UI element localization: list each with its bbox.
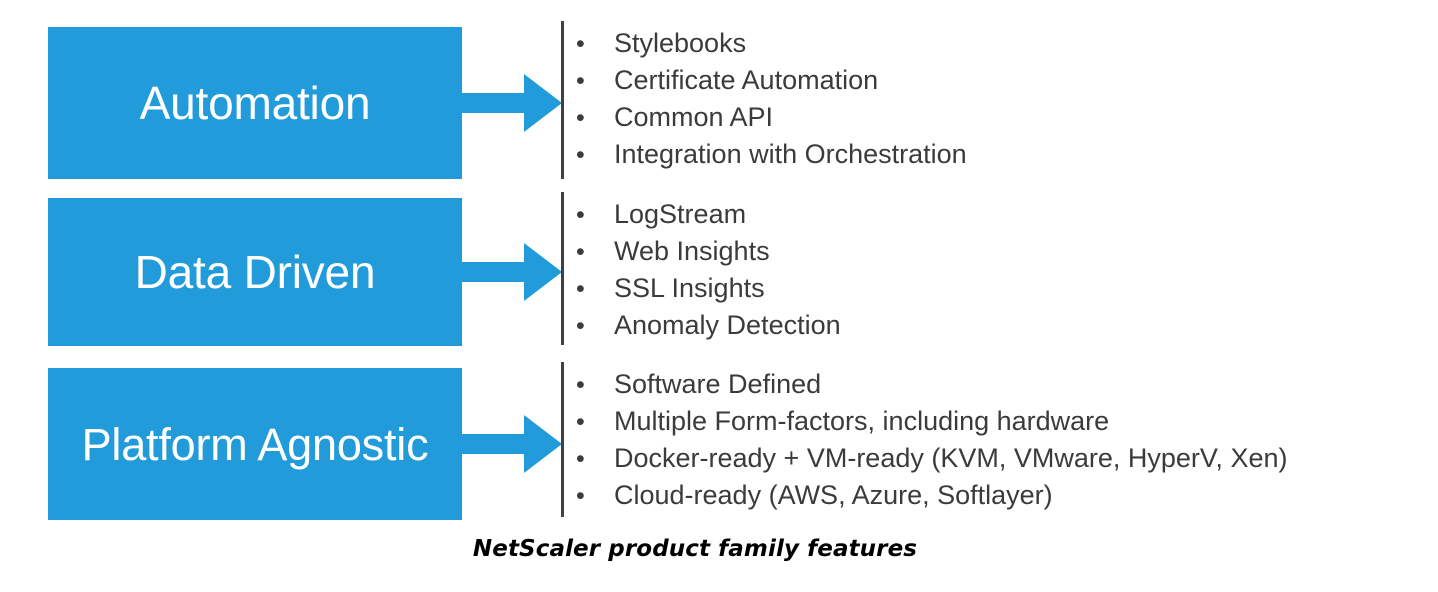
category-label: Data Driven	[135, 249, 376, 295]
arrow-right-icon	[462, 74, 562, 132]
arrow-right-icon	[462, 415, 562, 473]
list-item: • SSL Insights	[576, 270, 841, 307]
feature-group-platform-agnostic: Platform Agnostic • Software Defined • M…	[0, 368, 1438, 520]
bullet-point-icon: •	[576, 234, 614, 271]
list-item: • Web Insights	[576, 233, 841, 270]
list-item: • Integration with Orchestration	[576, 136, 967, 173]
feature-list-platform-agnostic: • Software Defined • Multiple Form-facto…	[576, 366, 1287, 514]
list-item: • Anomaly Detection	[576, 307, 841, 344]
list-item-label: Stylebooks	[614, 25, 746, 62]
feature-group-data-driven: Data Driven • LogStream • Web Insights •…	[0, 198, 1438, 346]
list-item: • Cloud-ready (AWS, Azure, Softlayer)	[576, 477, 1287, 514]
list-item-label: Software Defined	[614, 366, 821, 403]
bullet-point-icon: •	[576, 100, 614, 137]
list-item-label: Common API	[614, 99, 773, 136]
list-item-label: Integration with Orchestration	[614, 136, 967, 173]
bullet-point-icon: •	[576, 26, 614, 63]
category-label: Platform Agnostic	[82, 422, 429, 467]
list-item-label: Multiple Form-factors, including hardwar…	[614, 403, 1109, 440]
list-item: • Software Defined	[576, 366, 1287, 403]
list-item-label: Anomaly Detection	[614, 307, 841, 344]
group-divider-line	[561, 362, 564, 517]
list-item: • Common API	[576, 99, 967, 136]
arrow-right-icon	[462, 243, 562, 301]
list-item: • Stylebooks	[576, 25, 967, 62]
list-item-label: LogStream	[614, 196, 746, 233]
list-item: • Multiple Form-factors, including hardw…	[576, 403, 1287, 440]
category-box-data-driven[interactable]: Data Driven	[48, 198, 462, 346]
feature-group-automation: Automation • Stylebooks • Certificate Au…	[0, 27, 1438, 179]
bullet-point-icon: •	[576, 308, 614, 345]
category-box-platform-agnostic[interactable]: Platform Agnostic	[48, 368, 462, 520]
list-item-label: Docker-ready + VM-ready (KVM, VMware, Hy…	[614, 440, 1287, 477]
list-item-label: SSL Insights	[614, 270, 765, 307]
list-item: • Certificate Automation	[576, 62, 967, 99]
category-label: Automation	[140, 80, 371, 126]
group-divider-line	[561, 21, 564, 179]
bullet-point-icon: •	[576, 137, 614, 174]
bullet-point-icon: •	[576, 197, 614, 234]
feature-diagram: Automation • Stylebooks • Certificate Au…	[0, 0, 1438, 592]
bullet-point-icon: •	[576, 63, 614, 100]
list-item-label: Certificate Automation	[614, 62, 878, 99]
bullet-point-icon: •	[576, 404, 614, 441]
bullet-point-icon: •	[576, 367, 614, 404]
bullet-point-icon: •	[576, 478, 614, 515]
list-item: • LogStream	[576, 196, 841, 233]
feature-list-automation: • Stylebooks • Certificate Automation • …	[576, 25, 967, 173]
figure-caption: NetScaler product family features	[0, 536, 1390, 562]
list-item-label: Cloud-ready (AWS, Azure, Softlayer)	[614, 477, 1053, 514]
feature-list-data-driven: • LogStream • Web Insights • SSL Insight…	[576, 196, 841, 344]
bullet-point-icon: •	[576, 441, 614, 478]
category-box-automation[interactable]: Automation	[48, 27, 462, 179]
list-item: • Docker-ready + VM-ready (KVM, VMware, …	[576, 440, 1287, 477]
list-item-label: Web Insights	[614, 233, 770, 270]
bullet-point-icon: •	[576, 271, 614, 308]
group-divider-line	[561, 192, 564, 345]
